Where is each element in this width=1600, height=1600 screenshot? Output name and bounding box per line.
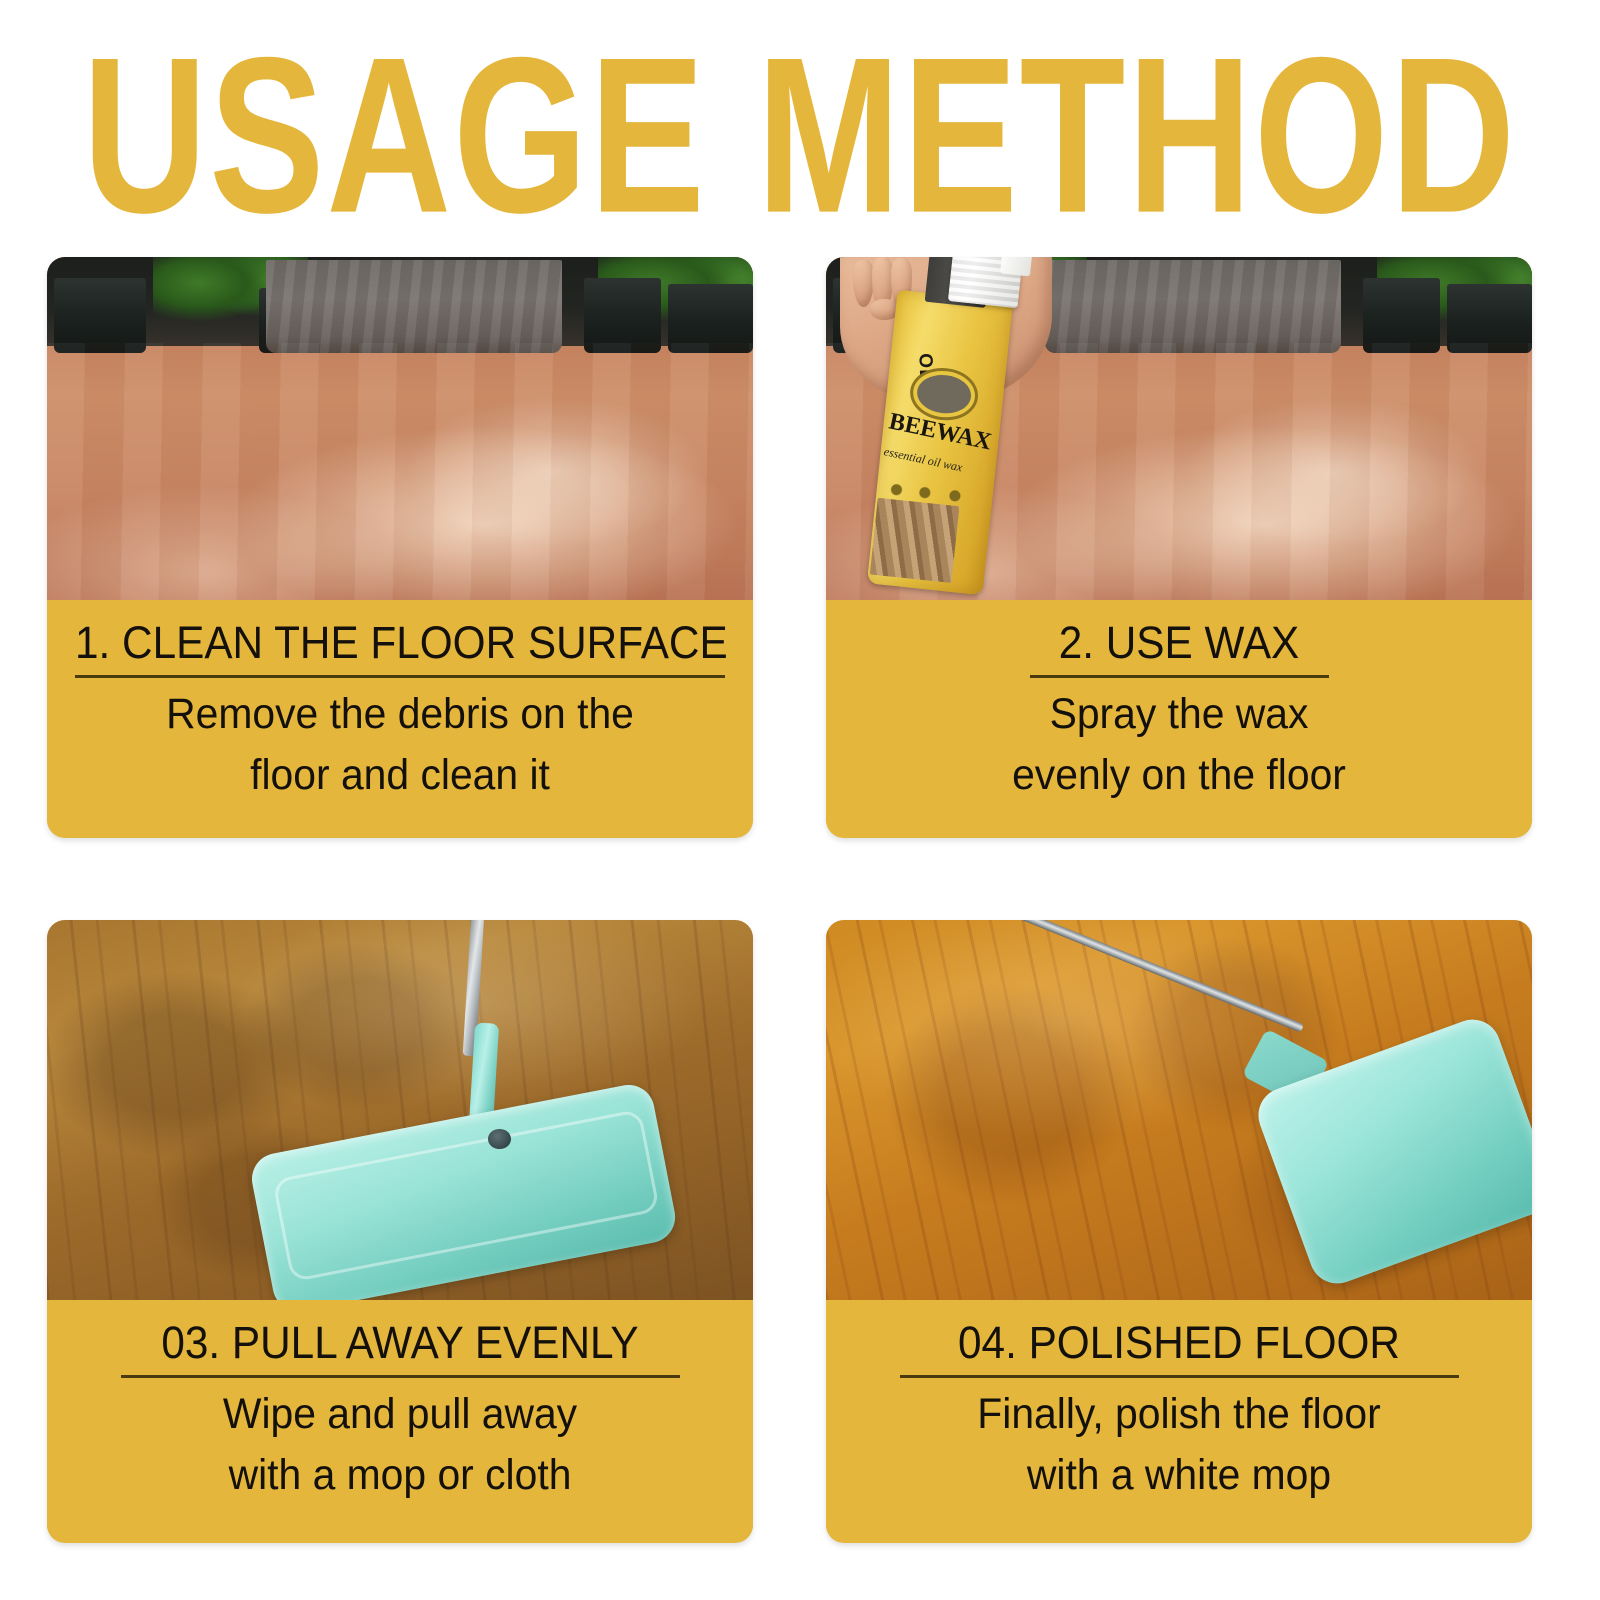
usage-steps-grid: 1. CLEAN THE FLOOR SURFACE Remove the de…: [47, 257, 1553, 1547]
step-card-1[interactable]: 1. CLEAN THE FLOOR SURFACE Remove the de…: [47, 257, 753, 838]
step-2-photo: OE BEEWAX essential oil wax: [826, 257, 1532, 600]
step-card-3[interactable]: 03. PULL AWAY EVENLY Wipe and pull away …: [47, 920, 753, 1543]
finger: [853, 260, 874, 308]
step-4-caption: 04. POLISHED FLOOR Finally, polish the f…: [826, 1300, 1532, 1532]
caption-divider: [1030, 675, 1329, 678]
step-3-photo: [47, 920, 753, 1300]
page-title: USAGE METHOD: [83, 29, 1518, 242]
step-1-body-line2: floor and clean it: [91, 745, 709, 806]
step-2-heading: 2. USE WAX: [874, 620, 1485, 666]
step-1-heading: 1. CLEAN THE FLOOR SURFACE: [75, 620, 686, 666]
step-2-body-line2: evenly on the floor: [870, 745, 1488, 806]
step-1-caption: 1. CLEAN THE FLOOR SURFACE Remove the de…: [47, 600, 753, 832]
bottle-seal-badge: [916, 372, 973, 416]
mop-swivel-joint: [488, 1129, 511, 1149]
step-3-body-line1: Wipe and pull away: [91, 1384, 709, 1445]
step-3-heading: 03. PULL AWAY EVENLY: [95, 1320, 706, 1366]
plant-pot-icon: [1363, 278, 1441, 353]
step-2-caption: 2. USE WAX Spray the wax evenly on the f…: [826, 600, 1532, 832]
bottle-plank-graphic: [871, 498, 960, 583]
plant-pot-icon: [54, 278, 146, 353]
grey-drape: [266, 260, 563, 353]
step-4-photo: [826, 920, 1532, 1300]
caption-divider: [900, 1375, 1459, 1378]
spray-nozzle: [1001, 257, 1035, 277]
step-card-4[interactable]: 04. POLISHED FLOOR Finally, polish the f…: [826, 920, 1532, 1543]
caption-divider: [75, 675, 725, 678]
step-card-2[interactable]: OE BEEWAX essential oil wax 2. USE WAX S…: [826, 257, 1532, 838]
step-4-body-line2: with a white mop: [870, 1445, 1488, 1506]
step-2-body-line1: Spray the wax: [870, 684, 1488, 745]
page-title-bar: USAGE METHOD: [0, 38, 1600, 233]
step-3-caption: 03. PULL AWAY EVENLY Wipe and pull away …: [47, 1300, 753, 1532]
caption-divider: [121, 1375, 680, 1378]
step-1-body-line1: Remove the debris on the: [91, 684, 709, 745]
grey-drape: [1045, 260, 1342, 353]
plant-pot-icon: [584, 278, 662, 353]
step-1-photo: [47, 257, 753, 600]
step-3-body-line2: with a mop or cloth: [91, 1445, 709, 1506]
step-4-body-line1: Finally, polish the floor: [870, 1384, 1488, 1445]
floor-sheen: [47, 343, 753, 600]
step-4-heading: 04. POLISHED FLOOR: [874, 1320, 1485, 1366]
